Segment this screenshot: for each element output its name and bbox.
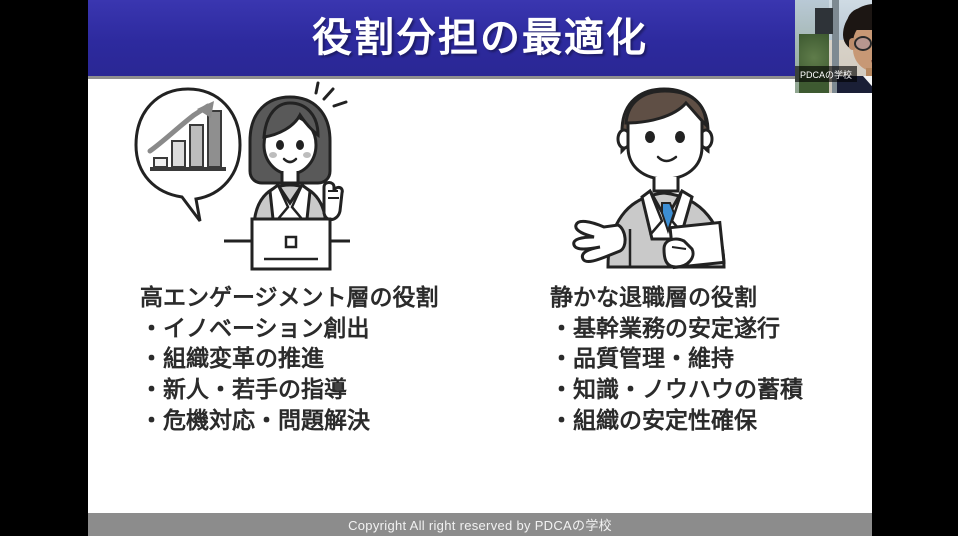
column-quiet-quitting: 静かな退職層の役割 ・基幹業務の安定遂行 ・品質管理・維持 ・知識・ノウハウの蓄… [528,79,858,436]
bullet-item: ・組織の安定性確保 [550,406,858,437]
column-heading: 静かな退職層の役割 [550,284,858,314]
column-high-engagement: 高エンゲージメント層の役割 ・イノベーション創出 ・組織変革の推進 ・新人・若手… [118,79,518,436]
woman-laptop-svg [128,79,358,279]
column-heading: 高エンゲージメント層の役割 [140,284,518,314]
letterbox-right [872,0,958,536]
screen-capture: 役割分担の最適化 [0,0,958,536]
man-presenting-svg [568,79,768,279]
presentation-slide: 役割分担の最適化 [88,0,872,536]
laptop [252,219,330,269]
bullet-item: ・基幹業務の安定遂行 [550,314,858,345]
bullet-item: ・イノベーション創出 [140,314,518,345]
bullet-item: ・組織変革の推進 [140,344,518,375]
letterbox-left [0,0,88,536]
man-figure [574,89,724,268]
emphasis-lines [316,83,346,106]
bullet-item: ・危機対応・問題解決 [140,406,518,437]
slide-title-banner: 役割分担の最適化 [88,0,872,76]
page-title: 役割分担の最適化 [312,18,648,58]
glasses-left-lens [854,36,872,51]
growth-chart-bubble [136,89,240,221]
webcam-name-label: PDCAの学校 [795,66,857,82]
slide-footer: Copyright All right reserved by PDCAの学校 [88,513,872,536]
illustration-man-presenting [568,79,858,284]
text-block-quiet-quitting: 静かな退職層の役割 ・基幹業務の安定遂行 ・品質管理・維持 ・知識・ノウハウの蓄… [550,284,858,436]
slide-body: 高エンゲージメント層の役割 ・イノベーション創出 ・組織変革の推進 ・新人・若手… [88,79,872,513]
bullet-item: ・品質管理・維持 [550,344,858,375]
illustration-woman-at-laptop [128,79,518,284]
bullet-item: ・知識・ノウハウの蓄積 [550,375,858,406]
text-block-high-engagement: 高エンゲージメント層の役割 ・イノベーション創出 ・組織変革の推進 ・新人・若手… [140,284,518,436]
bullet-item: ・新人・若手の指導 [140,375,518,406]
copyright-text: Copyright All right reserved by PDCAの学校 [348,515,612,534]
